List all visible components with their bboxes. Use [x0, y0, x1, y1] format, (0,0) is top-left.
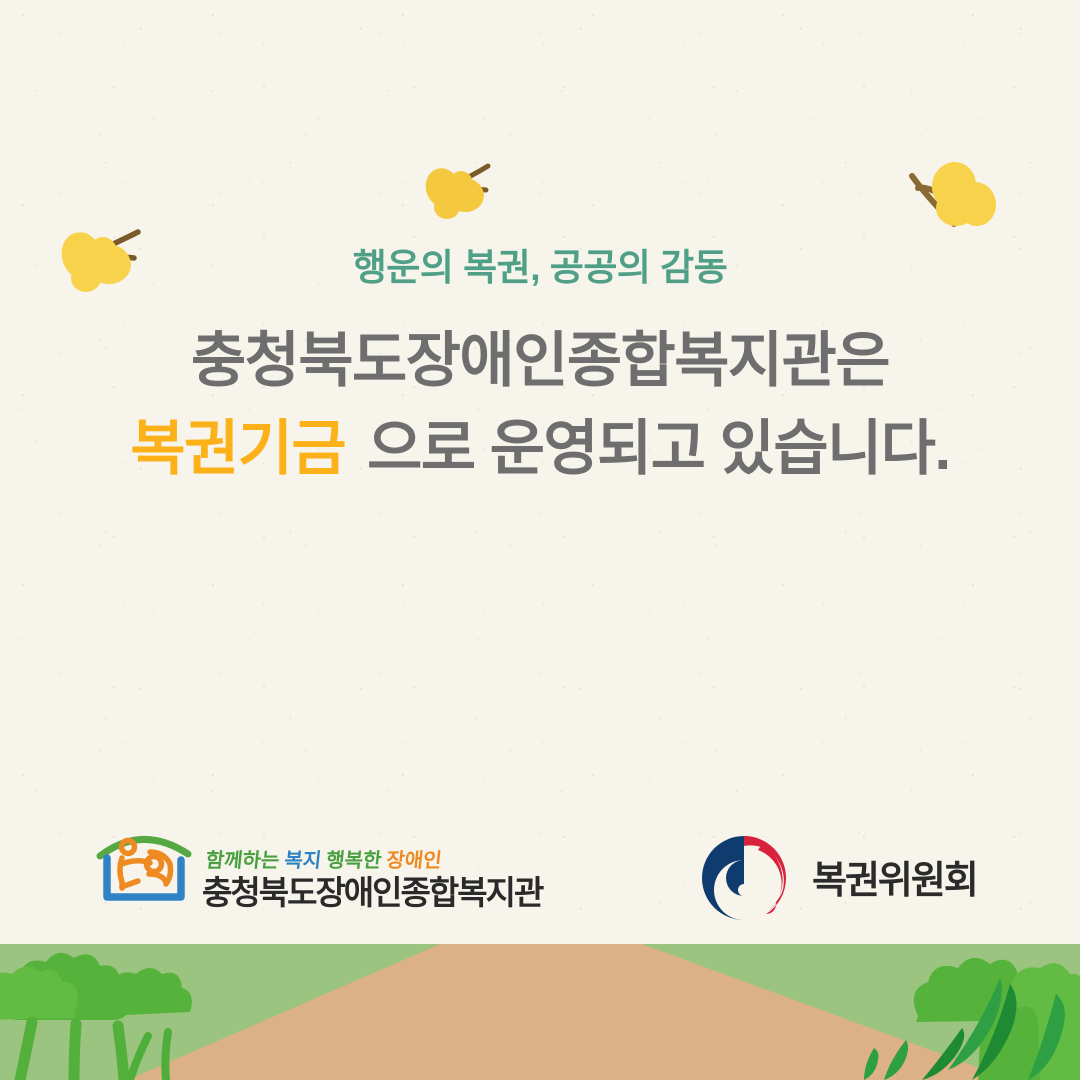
house-roof-icon [100, 839, 188, 856]
poster-canvas: 행운의 복권, 공공의 감동 충청북도장애인종합복지관은 복권기금으로 운영되고… [0, 0, 1080, 1080]
bottom-scenery-illustration [0, 944, 1080, 1080]
butterfly-right-decoration [896, 154, 1006, 250]
welfare-tagline: 함께하는 복지 행복한 장애인 [204, 844, 543, 873]
welfare-wordmark: 함께하는 복지 행복한 장애인 충청북도장애인종합복지관 [202, 844, 542, 911]
headline-line-2-rest: 으로 운영되고 있습니다. [367, 415, 950, 482]
welfare-house-mark-icon [92, 826, 196, 911]
house-figures-icon [120, 841, 171, 889]
korea-government-taegeuk-icon [698, 832, 790, 929]
logo-row: 함께하는 복지 행복한 장애인 충청북도장애인종합복지관 복권위원회 [0, 826, 1080, 936]
headline-line-1: 충청북도장애인종합복지관은 [0, 323, 1080, 400]
tagline-word-4: 장애인 [385, 850, 443, 872]
tagline-word-3: 행복한 [325, 850, 383, 872]
lottery-commission-logo: 복권위원회 [698, 832, 977, 929]
headline-block: 행운의 복권, 공공의 감동 충청북도장애인종합복지관은 복권기금으로 운영되고… [0, 248, 1080, 488]
headline-line-2: 복권기금으로 운영되고 있습니다. [0, 411, 1080, 488]
butterfly-wings-icon [928, 159, 999, 230]
eyebrow-text: 행운의 복권, 공공의 감동 [0, 248, 1080, 289]
welfare-org-name: 충청북도장애인종합복지관 [202, 876, 542, 909]
lottery-commission-name: 복권위원회 [812, 862, 977, 900]
welfare-center-logo: 함께하는 복지 행복한 장애인 충청북도장애인종합복지관 [92, 826, 542, 911]
butterfly-center-decoration [414, 152, 502, 232]
tagline-word-2: 복지 [283, 850, 322, 872]
headline-accent-word: 복권기금 [130, 415, 345, 482]
tagline-word-1: 함께하는 [205, 850, 281, 872]
